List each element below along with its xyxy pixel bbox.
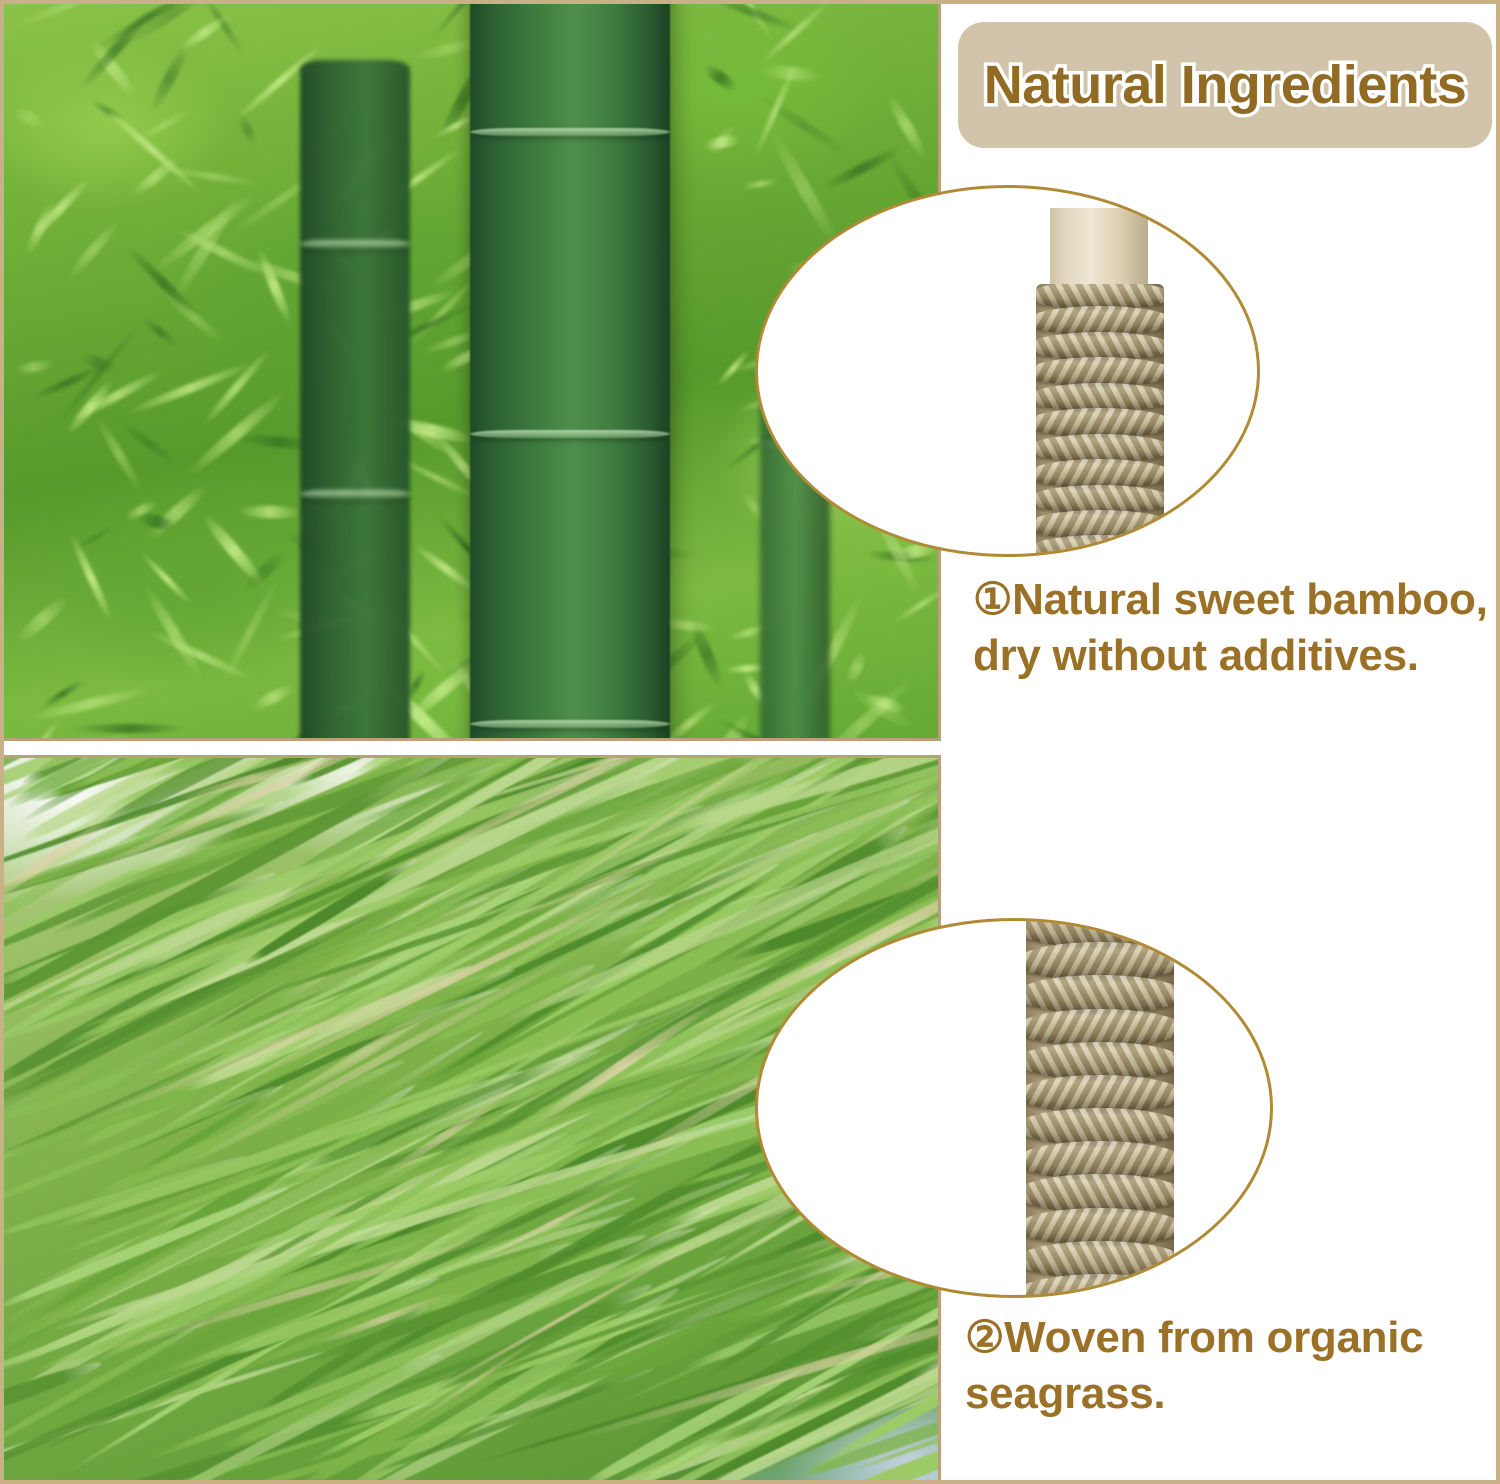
woven-seagrass-stick-image: [758, 921, 1270, 1295]
seagrass-weave-wrap-1: [1036, 284, 1164, 557]
callout-oval-bamboo: [755, 185, 1260, 557]
callout-number-2: ②: [965, 1313, 1004, 1362]
page-title: Natural Ingredients: [984, 54, 1467, 116]
callout-caption-2: ②Woven from organic seagrass.: [965, 1310, 1500, 1423]
callout-oval-seagrass: [755, 918, 1273, 1298]
woven-bamboo-stick-image: [758, 188, 1257, 554]
bamboo-culm-main: [470, 0, 670, 738]
info-column: Natural Ingredients ①Natural sweet bambo…: [941, 0, 1500, 1484]
callout-caption-1: ①Natural sweet bamboo, dry without addit…: [973, 572, 1493, 685]
seagrass-weave-wrap-2: [1026, 918, 1174, 1298]
title-banner: Natural Ingredients: [958, 22, 1492, 148]
callout-text-2: Woven from organic seagrass.: [965, 1313, 1423, 1418]
callout-number-1: ①: [973, 575, 1012, 624]
bamboo-culm-background: [300, 60, 410, 738]
callout-text-1: Natural sweet bamboo, dry without additi…: [973, 575, 1488, 680]
